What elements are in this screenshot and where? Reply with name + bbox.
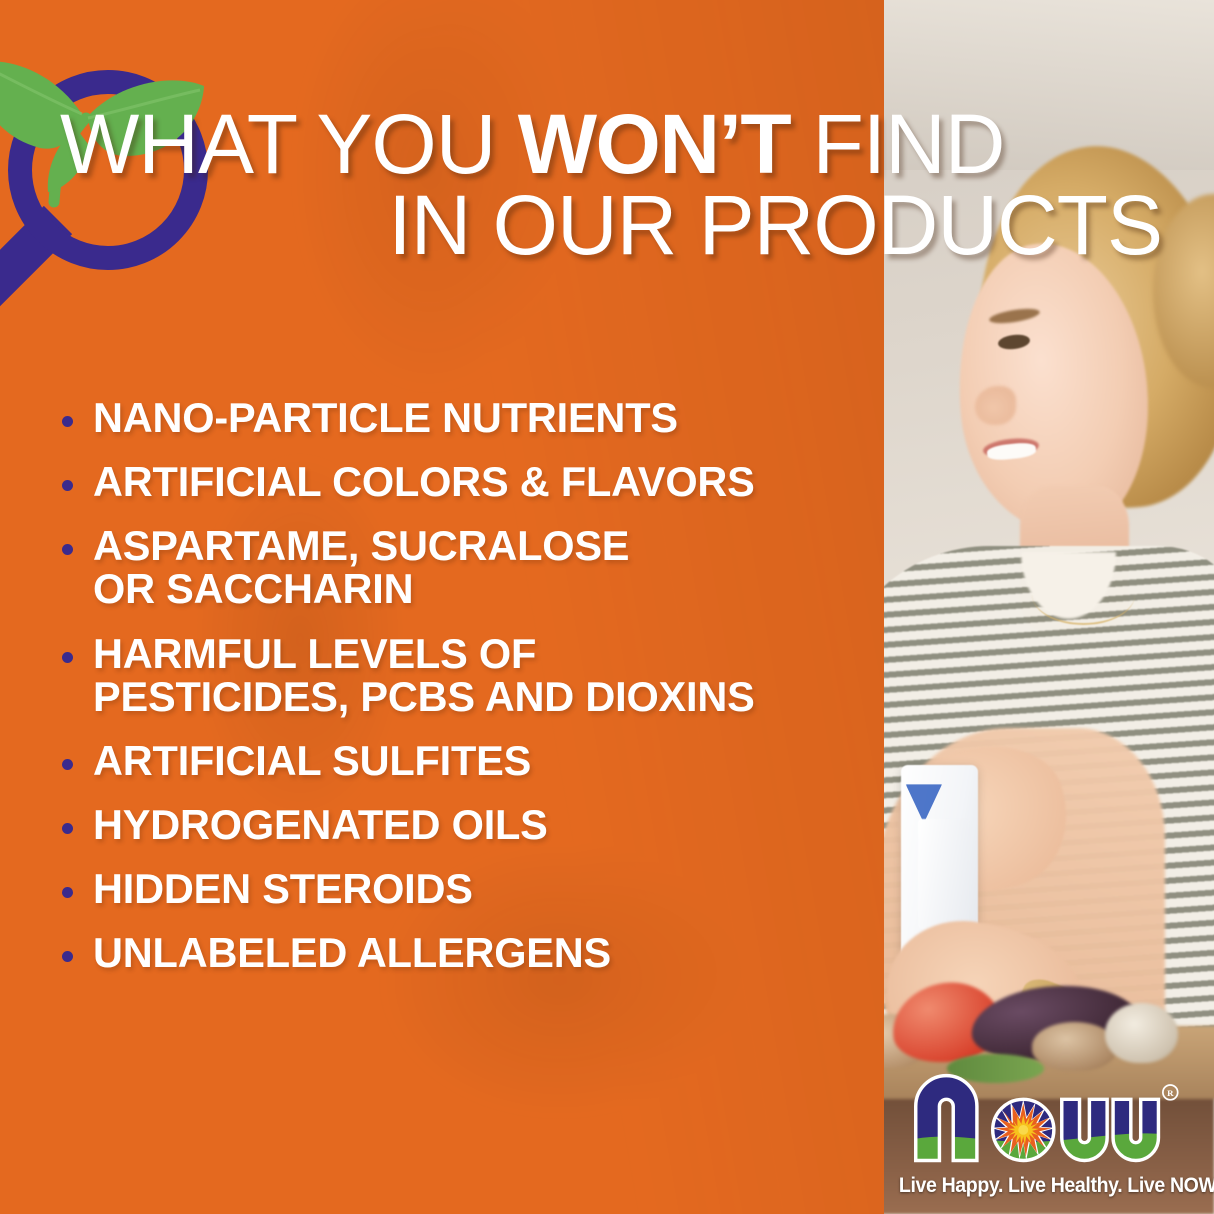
bullet-dot-icon: [62, 887, 73, 898]
list-item-label: ARTIFICIAL COLORS & FLAVORS: [93, 460, 755, 503]
page-title: WHAT YOU WON’T FIND IN OUR PRODUCTS: [60, 104, 1170, 265]
registered-trademark-icon: R: [1163, 1085, 1178, 1100]
gold-necklace: [1032, 565, 1135, 626]
list-item-label: ARTIFICIAL SULFITES: [93, 739, 531, 782]
list-item: ARTIFICIAL COLORS & FLAVORS: [62, 460, 872, 503]
bullet-dot-icon: [62, 951, 73, 962]
now-foods-logo: R Live Happy. Live Healthy. Live NOW.: [888, 1047, 1200, 1198]
headline-line-1: WHAT YOU WON’T FIND: [60, 104, 1170, 185]
woman-nose: [975, 386, 1016, 425]
list-item-label: ASPARTAME, SUCRALOSE OR SACCHARIN: [93, 524, 629, 610]
brand-tagline: Live Happy. Live Healthy. Live NOW.: [899, 1174, 1189, 1198]
now-wordmark-icon: R: [896, 1047, 1192, 1170]
headline-emphasis: WON’T: [518, 97, 790, 191]
list-item: HYDROGENATED OILS: [62, 803, 872, 846]
headline-pre: WHAT YOU: [60, 97, 518, 191]
bullet-dot-icon: [62, 416, 73, 427]
promotional-poster: WHAT YOU WON’T FIND IN OUR PRODUCTS NANO…: [0, 0, 1214, 1214]
list-item: ASPARTAME, SUCRALOSE OR SACCHARIN: [62, 524, 872, 610]
bullet-dot-icon: [62, 759, 73, 770]
list-item-label: NANO-PARTICLE NUTRIENTS: [93, 396, 678, 439]
bullet-dot-icon: [62, 823, 73, 834]
bullet-dot-icon: [62, 480, 73, 491]
list-item: HIDDEN STEROIDS: [62, 867, 872, 910]
bullet-dot-icon: [62, 652, 73, 663]
bottle-cap: [918, 819, 969, 928]
headline-line-2: IN OUR PRODUCTS: [60, 185, 1170, 266]
list-item-label: HIDDEN STEROIDS: [93, 867, 473, 910]
list-item-label: UNLABELED ALLERGENS: [93, 931, 611, 974]
list-item-label: HARMFUL LEVELS OF PESTICIDES, PCBS AND D…: [93, 632, 755, 718]
list-item: NANO-PARTICLE NUTRIENTS: [62, 396, 872, 439]
list-item: UNLABELED ALLERGENS: [62, 931, 872, 974]
bullet-dot-icon: [62, 544, 73, 555]
list-item-label: HYDROGENATED OILS: [93, 803, 548, 846]
excluded-ingredients-list: NANO-PARTICLE NUTRIENTS ARTIFICIAL COLOR…: [62, 396, 872, 975]
list-item: HARMFUL LEVELS OF PESTICIDES, PCBS AND D…: [62, 632, 872, 718]
list-item: ARTIFICIAL SULFITES: [62, 739, 872, 782]
svg-text:R: R: [1167, 1088, 1174, 1098]
headline-post: FIND: [790, 97, 1004, 191]
